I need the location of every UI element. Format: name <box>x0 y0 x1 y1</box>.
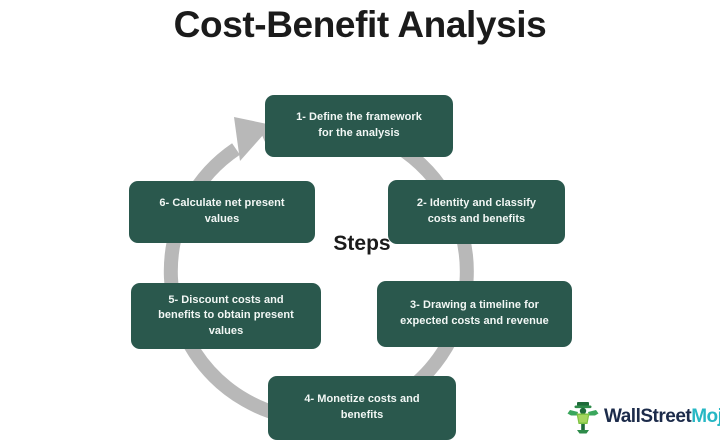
logo-word-primary: WallStreet <box>604 406 691 427</box>
step-6-line-1: 6- Calculate net present <box>159 196 284 212</box>
step-5-line-1: 5- Discount costs and <box>158 293 294 309</box>
step-1-line-1: 1- Define the framework <box>296 110 422 126</box>
wallstreetmojo-logo[interactable]: WallStreetMojo <box>566 398 720 434</box>
step-1-line-2: for the analysis <box>296 126 422 142</box>
diagram-canvas: Cost-Benefit Analysis Steps 1- Define th… <box>0 0 720 448</box>
step-box-2[interactable]: 2- Identity and classify costs and benef… <box>388 180 565 244</box>
cycle-center-label: Steps <box>316 232 408 256</box>
step-box-4[interactable]: 4- Monetize costs and benefits <box>268 376 456 440</box>
logo-word-accent: Mojo <box>691 406 720 427</box>
step-5-line-3: values <box>158 324 294 340</box>
step-3-line-2: expected costs and revenue <box>400 314 549 330</box>
step-box-1[interactable]: 1- Define the framework for the analysis <box>265 95 453 157</box>
step-2-line-1: 2- Identity and classify <box>417 196 536 212</box>
step-box-5[interactable]: 5- Discount costs and benefits to obtain… <box>131 283 321 349</box>
step-6-line-2: values <box>159 212 284 228</box>
graduate-figure-icon <box>566 398 600 434</box>
step-2-line-2: costs and benefits <box>417 212 536 228</box>
step-5-line-2: benefits to obtain present <box>158 308 294 324</box>
step-4-line-2: benefits <box>304 408 419 424</box>
step-3-line-1: 3- Drawing a timeline for <box>400 298 549 314</box>
step-box-6[interactable]: 6- Calculate net present values <box>129 181 315 243</box>
step-box-3[interactable]: 3- Drawing a timeline for expected costs… <box>377 281 572 347</box>
logo-wordmark: WallStreetMojo <box>604 407 720 426</box>
step-4-line-1: 4- Monetize costs and <box>304 392 419 408</box>
